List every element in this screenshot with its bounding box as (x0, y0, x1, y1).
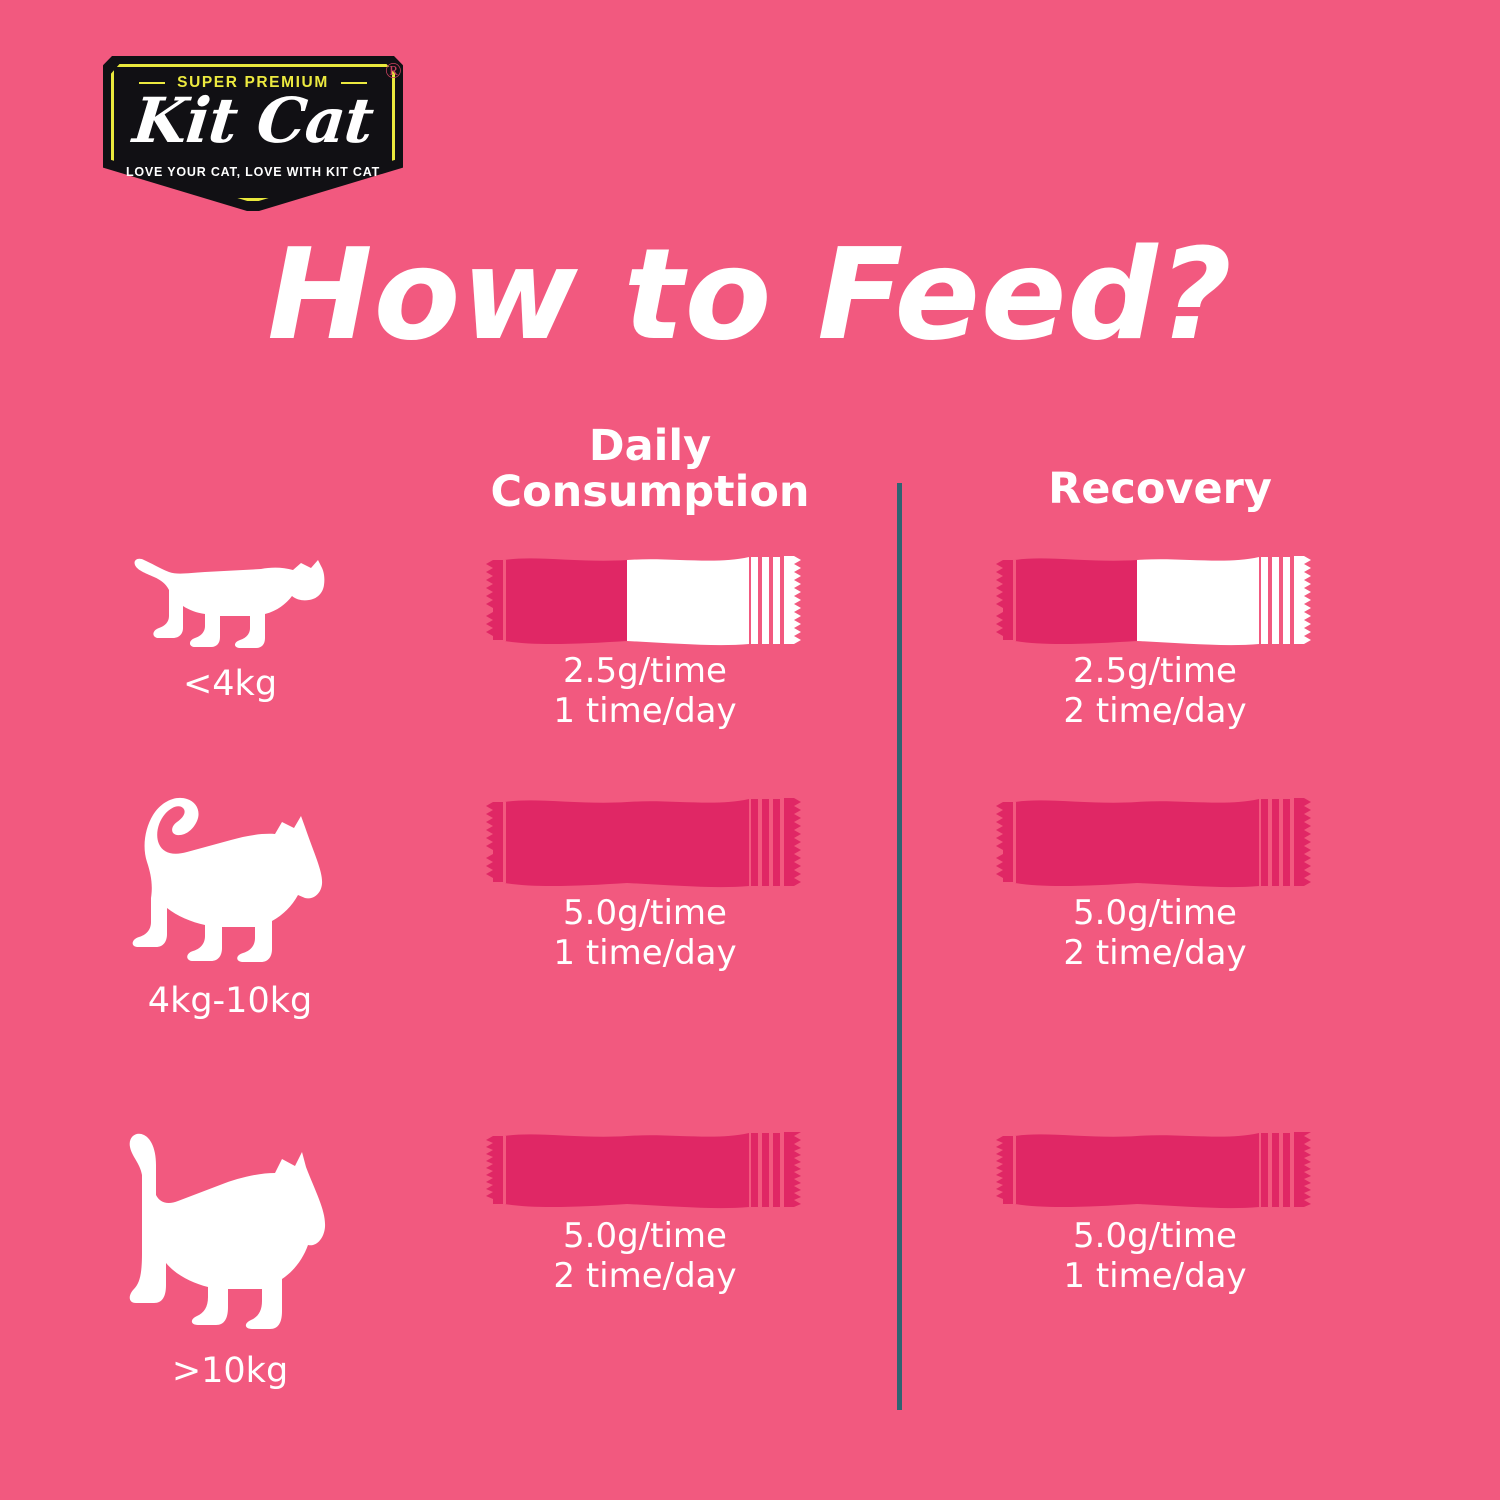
dose-cell-daily: 5.0g/time 1 time/day (435, 790, 855, 974)
half-filled-sachet-icon (475, 548, 815, 652)
full-sachet-icon (985, 790, 1325, 894)
column-header-daily-line2: Consumption (450, 470, 850, 516)
column-header-recovery: Recovery (960, 467, 1360, 513)
logo-tagline: LOVE YOUR CAT, LOVE WITH KIT CAT (103, 165, 403, 179)
cat-weight-label: >10kg (70, 1351, 390, 1391)
dose-cell-daily: 5.0g/time 2 time/day (435, 1125, 855, 1297)
full-sachet-icon (475, 1125, 815, 1217)
logo-brand-name: Kit Cat (99, 84, 407, 157)
cat-size-cell: 4kg-10kg (70, 790, 390, 1021)
column-header-daily-line1: Daily (450, 424, 850, 470)
feeding-guide-poster: SUPER PREMIUM Kit Cat LOVE YOUR CAT, LOV… (0, 0, 1500, 1500)
cat-size-cell: >10kg (70, 1125, 390, 1391)
page-title: How to Feed? (0, 232, 1500, 358)
full-sachet-icon (985, 1125, 1325, 1217)
dose-cell-recovery: 5.0g/time 2 time/day (945, 790, 1365, 974)
registered-trademark-icon: ® (385, 58, 402, 84)
dose-text-daily: 5.0g/time 2 time/day (435, 1217, 855, 1297)
dose-text-daily: 2.5g/time 1 time/day (435, 652, 855, 732)
dose-text-daily: 5.0g/time 1 time/day (435, 894, 855, 974)
half-filled-sachet-icon (985, 548, 1325, 652)
cat-weight-label: <4kg (70, 664, 390, 704)
cat-weight-label: 4kg-10kg (70, 981, 390, 1021)
kit-cat-logo: SUPER PREMIUM Kit Cat LOVE YOUR CAT, LOV… (103, 56, 403, 211)
column-divider (897, 483, 902, 1410)
dose-cell-daily: 2.5g/time 1 time/day (435, 548, 855, 732)
cat-size-cell: <4kg (70, 548, 390, 704)
full-sachet-icon (475, 790, 815, 894)
dose-text-recovery: 2.5g/time 2 time/day (945, 652, 1365, 732)
dose-text-recovery: 5.0g/time 2 time/day (945, 894, 1365, 974)
dose-cell-recovery: 2.5g/time 2 time/day (945, 548, 1365, 732)
adult-cat-walking-icon (115, 790, 345, 975)
kitten-walking-icon (125, 548, 335, 658)
dose-text-recovery: 5.0g/time 1 time/day (945, 1217, 1365, 1297)
column-header-daily-consumption: Daily Consumption (450, 424, 850, 515)
dose-cell-recovery: 5.0g/time 1 time/day (945, 1125, 1365, 1297)
large-cat-walking-icon (110, 1125, 350, 1345)
